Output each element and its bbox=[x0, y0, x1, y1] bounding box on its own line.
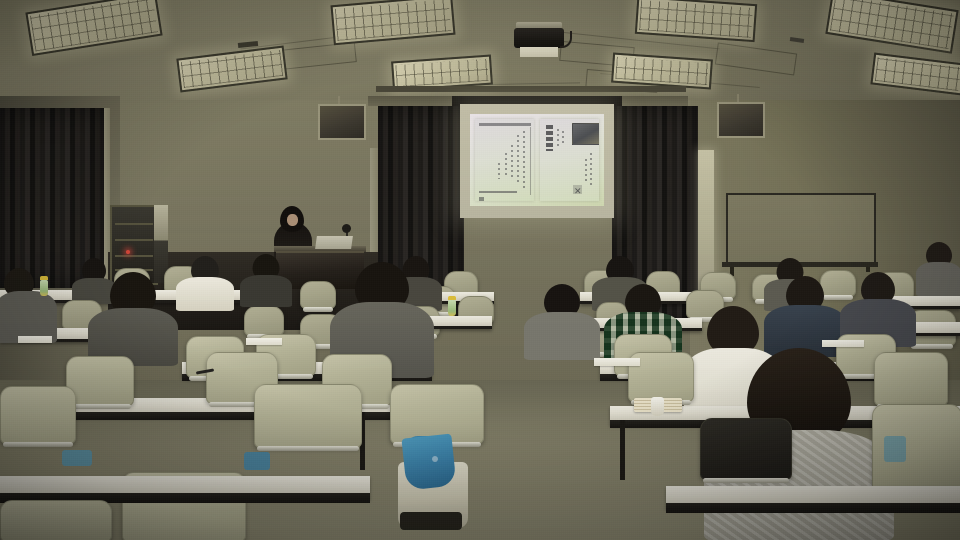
bottle-cap bbox=[40, 276, 48, 280]
wall-speaker-left bbox=[318, 104, 366, 140]
paper-sheet[interactable] bbox=[594, 358, 640, 366]
attendee bbox=[916, 242, 960, 294]
lecture-hall-photo: ✕ bbox=[0, 0, 960, 540]
rack-power-led[interactable] bbox=[126, 250, 130, 254]
chair[interactable] bbox=[66, 356, 134, 406]
chair[interactable] bbox=[254, 384, 362, 448]
whiteboard bbox=[726, 193, 876, 267]
attendee bbox=[240, 254, 292, 304]
attendee bbox=[524, 284, 600, 356]
paper-sheet[interactable] bbox=[822, 340, 864, 347]
attendee-grey-sweater bbox=[88, 272, 178, 364]
chair[interactable] bbox=[244, 306, 284, 336]
desk-cup[interactable] bbox=[651, 397, 664, 416]
floor-bag-blue bbox=[244, 452, 270, 470]
chair[interactable] bbox=[0, 386, 76, 444]
desk-skirt bbox=[666, 503, 960, 513]
soffit-shadow bbox=[376, 86, 686, 92]
chair[interactable] bbox=[700, 418, 792, 480]
water-bottle-2[interactable] bbox=[40, 280, 48, 296]
bottle-cap bbox=[448, 296, 456, 300]
chair[interactable] bbox=[0, 500, 112, 540]
microphone bbox=[342, 224, 351, 233]
paper-sheet[interactable] bbox=[246, 338, 282, 345]
wall-speaker-right bbox=[717, 102, 765, 138]
presenter-laptop bbox=[315, 236, 353, 249]
slide-page-right: ✕ bbox=[540, 119, 599, 201]
projector-plate bbox=[520, 47, 558, 57]
paper-sheet[interactable] bbox=[18, 336, 52, 343]
tote-bag-flap bbox=[401, 434, 456, 491]
tote-bag-base bbox=[400, 512, 462, 530]
floor-bag-blue bbox=[884, 436, 906, 462]
projected-slide: ✕ bbox=[470, 114, 604, 206]
desk bbox=[428, 316, 492, 329]
tote-bag-logo bbox=[432, 456, 438, 462]
floor-bag-blue bbox=[62, 450, 92, 466]
attendee-white-hoodie bbox=[176, 256, 234, 308]
projection-screen: ✕ bbox=[460, 104, 614, 218]
projector bbox=[514, 28, 564, 48]
slide-page-left bbox=[475, 119, 534, 201]
attendee bbox=[0, 268, 62, 342]
desk-leg bbox=[620, 420, 625, 480]
presenter-face bbox=[287, 214, 298, 226]
water-bottle-1[interactable] bbox=[448, 300, 456, 316]
